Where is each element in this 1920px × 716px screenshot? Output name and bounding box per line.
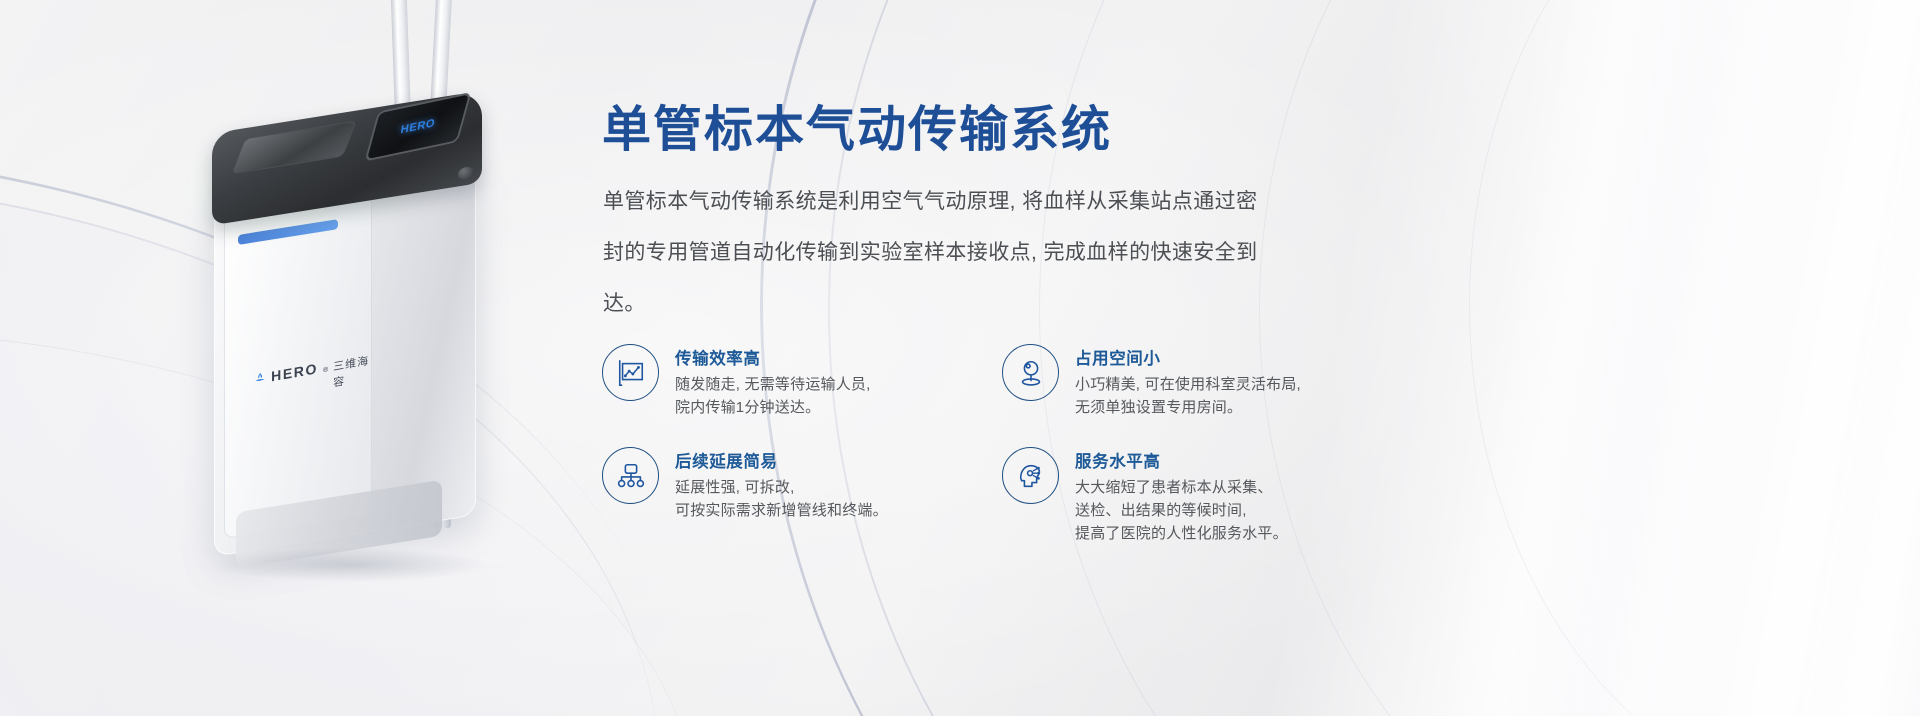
device-display: HERO (364, 92, 471, 162)
feature-title: 后续延展简易 (675, 448, 888, 472)
brand-trademark: ® (323, 366, 328, 374)
feature-text: 传输效率高 随发随走, 无需等待运输人员, 院内传输1分钟送达。 (675, 344, 871, 419)
device-sample-slot (231, 120, 357, 174)
feature-text: 占用空间小 小巧精美, 可在使用科室灵活布局, 无须单独设置专用房间。 (1075, 344, 1301, 419)
feature-title: 占用空间小 (1075, 345, 1301, 369)
feature-text: 后续延展简易 延展性强, 可拆改, 可按实际需求新增管线和终端。 (675, 447, 888, 522)
device-illustration: HERO ® 三维海容 HERO (150, 0, 570, 716)
chart-growth-icon (602, 344, 659, 401)
device-knob (458, 166, 474, 181)
brand-name: HERO (271, 360, 318, 384)
device-front-panel: HERO ® 三维海容 (224, 194, 372, 539)
feature-item-easy-expansion: 后续延展简易 延展性强, 可拆改, 可按实际需求新增管线和终端。 (602, 447, 932, 545)
device-ground-shadow (216, 548, 486, 582)
device-blue-accent (238, 219, 338, 245)
feature-description: 大大缩短了患者标本从采集、 送检、出结果的等候时间, 提高了医院的人性化服务水平… (1075, 476, 1288, 545)
feature-description: 小巧精美, 可在使用科室灵活布局, 无须单独设置专用房间。 (1075, 373, 1301, 419)
device-display-logo: HERO (400, 117, 436, 136)
feature-item-service-level: 服务水平高 大大缩短了患者标本从采集、 送检、出结果的等候时间, 提高了医院的人… (1002, 447, 1332, 545)
intro-paragraph: 单管标本气动传输系统是利用空气气动原理, 将血样从采集站点通过密封的专用管道自动… (603, 176, 1263, 329)
feature-title: 服务水平高 (1075, 448, 1288, 472)
device-brand-logo: HERO ® 三维海容 (254, 349, 372, 405)
hero-leaf-icon (254, 369, 266, 386)
space-sphere-icon (1002, 344, 1059, 401)
feature-list: 传输效率高 随发随走, 无需等待运输人员, 院内传输1分钟送达。 占用空间小 小… (602, 344, 1362, 545)
feature-title: 传输效率高 (675, 345, 871, 369)
feature-item-transfer-efficiency: 传输效率高 随发随走, 无需等待运输人员, 院内传输1分钟送达。 (602, 344, 932, 419)
brand-name-cn: 三维海容 (333, 352, 372, 391)
network-topology-icon (602, 447, 659, 504)
feature-description: 随发随走, 无需等待运输人员, 院内传输1分钟送达。 (675, 373, 871, 419)
feature-description: 延展性强, 可拆改, 可按实际需求新增管线和终端。 (675, 476, 888, 522)
smart-head-icon (1002, 447, 1059, 504)
content-column: 单管标本气动传输系统 单管标本气动传输系统是利用空气气动原理, 将血样从采集站点… (602, 0, 1362, 716)
feature-item-small-footprint: 占用空间小 小巧精美, 可在使用科室灵活布局, 无须单独设置专用房间。 (1002, 344, 1332, 419)
feature-text: 服务水平高 大大缩短了患者标本从采集、 送检、出结果的等候时间, 提高了医院的人… (1075, 447, 1288, 545)
product-banner: HERO ® 三维海容 HERO 单管标本气动传输系统 单管标本气动传输系统是利… (0, 0, 1920, 716)
page-title: 单管标本气动传输系统 (602, 90, 1112, 161)
